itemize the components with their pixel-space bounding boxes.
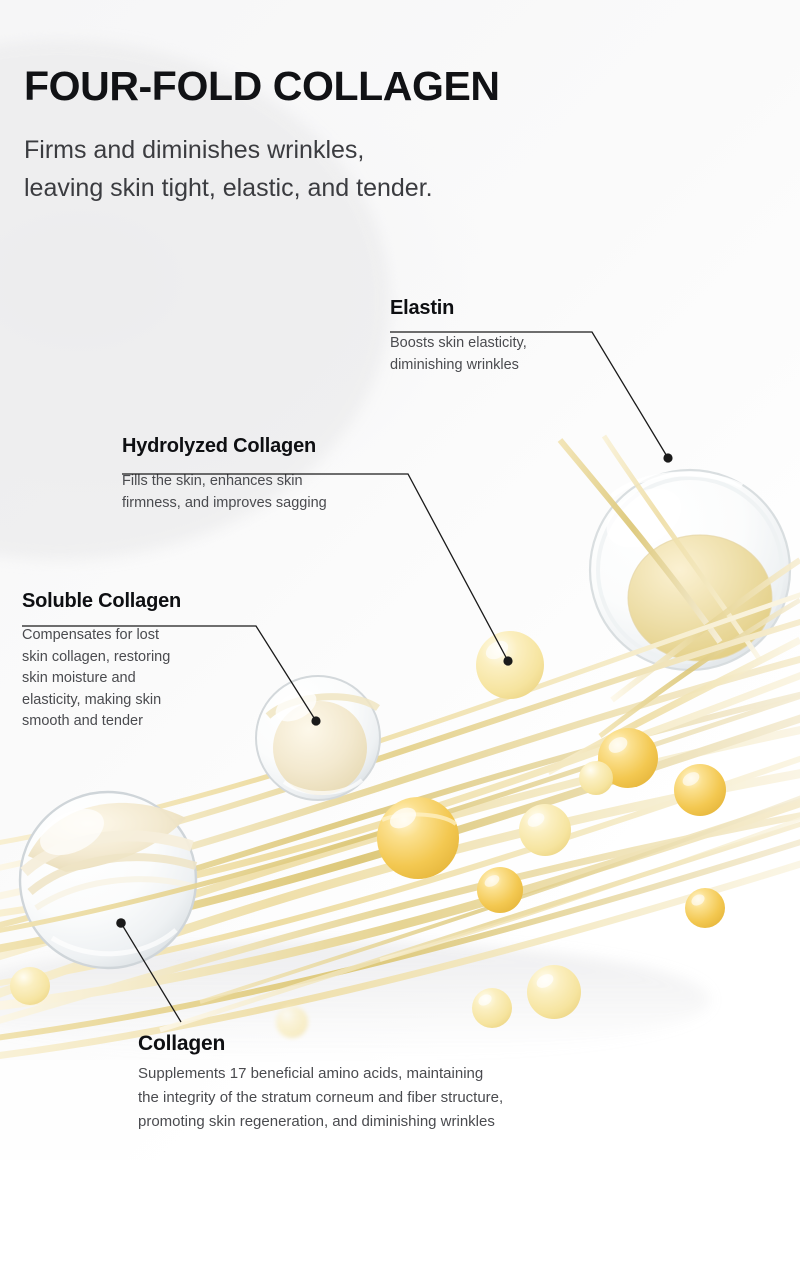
callout-hydrolyzed-line-2: firmness, and improves sagging: [122, 493, 327, 515]
callout-elastin: Elastin Boosts skin elasticity, diminish…: [390, 297, 527, 376]
callout-collagen-line-3: promoting skin regeneration, and diminis…: [138, 1110, 503, 1134]
page-subtitle: Firms and diminishes wrinkles, leaving s…: [24, 131, 433, 207]
subtitle-line-1: Firms and diminishes wrinkles,: [24, 131, 433, 169]
callout-elastin-title: Elastin: [390, 297, 527, 320]
callout-elastin-line-1: Boosts skin elasticity,: [390, 333, 527, 355]
callout-collagen-line-2: the integrity of the stratum corneum and…: [138, 1086, 503, 1110]
callout-elastin-line-2: diminishing wrinkles: [390, 355, 527, 377]
callout-hydrolyzed-collagen-body: Fills the skin, enhances skin firmness, …: [122, 471, 327, 514]
callout-collagen: Collagen Supplements 17 beneficial amino…: [138, 1032, 503, 1134]
callout-soluble-line-1: Compensates for lost: [22, 625, 181, 647]
callout-soluble-line-5: smooth and tender: [22, 711, 181, 733]
callout-hydrolyzed-collagen-title: Hydrolyzed Collagen: [122, 435, 327, 458]
callout-soluble-line-4: elasticity, making skin: [22, 690, 181, 712]
page-title: FOUR-FOLD COLLAGEN: [24, 63, 500, 110]
subtitle-line-2: leaving skin tight, elastic, and tender.: [24, 169, 433, 207]
callout-soluble-line-3: skin moisture and: [22, 668, 181, 690]
callout-soluble-collagen: Soluble Collagen Compensates for lost sk…: [22, 590, 181, 733]
callout-collagen-body: Supplements 17 beneficial amino acids, m…: [138, 1062, 503, 1134]
collagen-infographic: FOUR-FOLD COLLAGEN Firms and diminishes …: [0, 0, 800, 1276]
callout-soluble-collagen-title: Soluble Collagen: [22, 590, 181, 613]
callout-collagen-line-1: Supplements 17 beneficial amino acids, m…: [138, 1062, 503, 1086]
callout-hydrolyzed-collagen: Hydrolyzed Collagen Fills the skin, enha…: [122, 435, 327, 514]
callout-soluble-collagen-body: Compensates for lost skin collagen, rest…: [22, 625, 181, 733]
callout-elastin-body: Boosts skin elasticity, diminishing wrin…: [390, 333, 527, 376]
callout-soluble-line-2: skin collagen, restoring: [22, 647, 181, 669]
callout-collagen-title: Collagen: [138, 1032, 503, 1056]
callout-hydrolyzed-line-1: Fills the skin, enhances skin: [122, 471, 327, 493]
